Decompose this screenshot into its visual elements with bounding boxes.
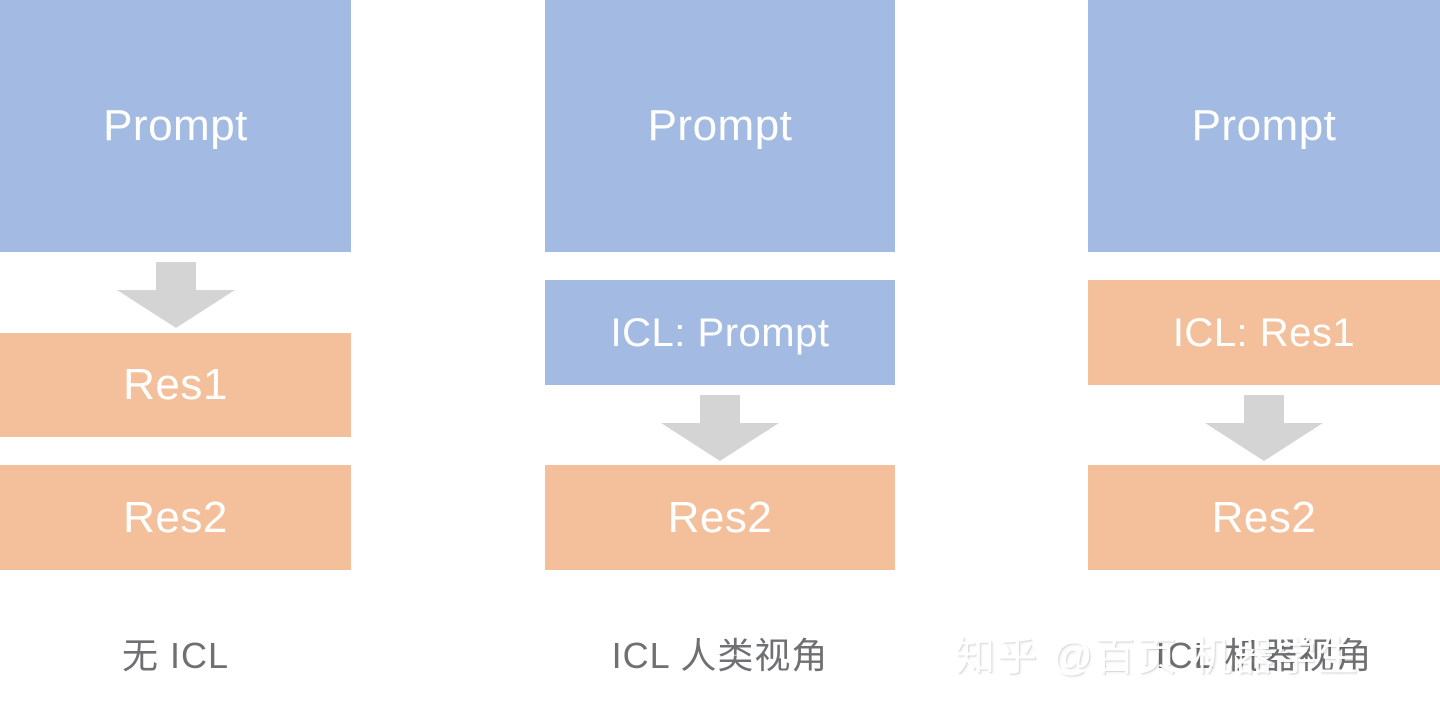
box-label: ICL: Prompt <box>611 313 830 353</box>
box-label: Res2 <box>668 496 773 540</box>
box-label: Prompt <box>103 104 248 148</box>
column-caption-no-icl: 无 ICL <box>0 622 351 684</box>
box-prompt: Prompt <box>545 0 895 252</box>
box-label: Prompt <box>648 104 793 148</box>
box-label: ICL: Res1 <box>1173 313 1355 353</box>
box-res2: Res2 <box>545 465 895 570</box>
box-icl-res1: ICL: Res1 <box>1088 280 1440 385</box>
diagram-canvas: Prompt Res1 Res2 无 ICL Prompt ICL: Promp… <box>0 0 1440 707</box>
box-label: Prompt <box>1192 104 1337 148</box>
column-caption-icl-human-view: ICL 人类视角 <box>545 622 895 684</box>
box-label: Res2 <box>1212 496 1317 540</box>
box-res2: Res2 <box>0 465 351 570</box>
diagram-column-icl-machine-view: Prompt ICL: Res1 Res2 ICL 机器视角 <box>1088 0 1440 707</box>
box-prompt: Prompt <box>0 0 351 252</box>
down-arrow-icon <box>661 395 779 461</box>
box-res1: Res1 <box>0 333 351 437</box>
diagram-column-no-icl: Prompt Res1 Res2 无 ICL <box>0 0 351 707</box>
column-caption-icl-machine-view: ICL 机器视角 <box>1088 622 1440 684</box>
down-arrow-icon <box>117 262 235 328</box>
box-label: Res2 <box>123 496 228 540</box>
box-res2: Res2 <box>1088 465 1440 570</box>
down-arrow-icon <box>1205 395 1323 461</box>
box-prompt: Prompt <box>1088 0 1440 252</box>
box-icl-prompt: ICL: Prompt <box>545 280 895 385</box>
diagram-column-icl-human-view: Prompt ICL: Prompt Res2 ICL 人类视角 <box>545 0 895 707</box>
box-label: Res1 <box>123 363 228 407</box>
